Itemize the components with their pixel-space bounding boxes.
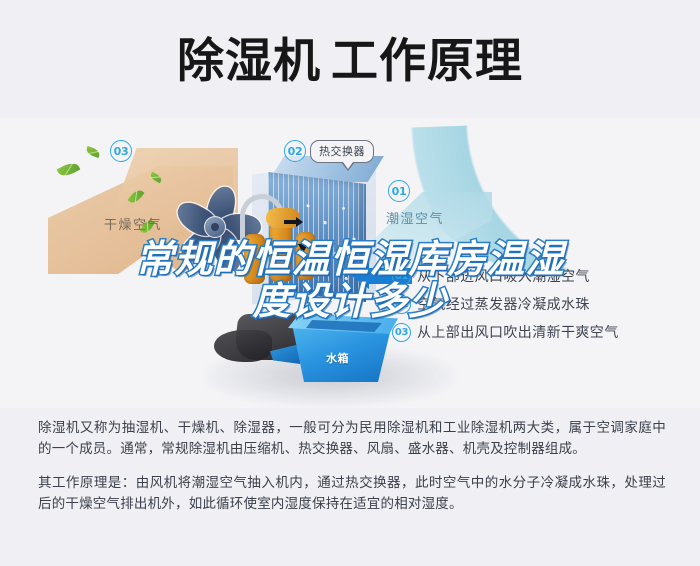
body-copy: 除湿机又称为抽湿机、干燥机、除湿器，一般可分为民用除湿机和工业除湿机两大类，属于… xyxy=(38,418,666,515)
coil-cylinder-top xyxy=(266,208,300,228)
step-description: 空气经过蒸发器冷凝成水珠 xyxy=(417,294,590,314)
page-title: 除湿机工作原理 xyxy=(177,38,523,85)
coil-cylinder xyxy=(296,232,315,280)
caption-humid-air: 潮湿空气 xyxy=(386,208,444,227)
diagram-badge-03: 03 xyxy=(110,140,132,162)
title-part2: 工作原理 xyxy=(331,34,523,89)
page-root: 除湿机工作原理 xyxy=(0,0,700,566)
flow-arrow-up-icon xyxy=(270,240,280,249)
water-tank-label: 水箱 xyxy=(326,350,349,366)
coil-cylinder xyxy=(270,222,292,282)
flow-arrow-right-icon xyxy=(284,220,297,224)
compressor-coil-assembly xyxy=(236,192,322,288)
caption-dry-air: 干燥空气 xyxy=(104,214,162,233)
step-description: 从下部进风口吸入潮湿空气 xyxy=(417,266,590,286)
body-paragraph-1: 除湿机又称为抽湿机、干燥机、除湿器，一般可分为民用除湿机和工业除湿机两大类，属于… xyxy=(38,418,666,460)
step-number-badge: 01 xyxy=(392,267,411,286)
coil-cylinder xyxy=(244,234,265,284)
step-list-item: 02 空气经过蒸发器冷凝成水珠 xyxy=(392,290,692,318)
step-number-badge: 02 xyxy=(392,295,411,314)
step-number-badge: 03 xyxy=(392,323,411,342)
body-paragraph-2: 其工作原理是：由风机将潮湿空气抽入机内，通过热交换器，此时空气中的水分子冷凝成水… xyxy=(38,473,666,515)
step-list: 01 从下部进风口吸入潮湿空气 02 空气经过蒸发器冷凝成水珠 03 从上部出风… xyxy=(392,262,692,346)
step-list-item: 03 从上部出风口吹出清新干爽空气 xyxy=(392,318,692,346)
leaf-icon xyxy=(57,160,81,180)
step-list-item: 01 从下部进风口吸入潮湿空气 xyxy=(392,262,692,290)
step-description: 从上部出风口吹出清新干爽空气 xyxy=(417,322,619,342)
diagram-badge-02: 02 xyxy=(284,140,306,162)
heat-exchanger-callout: 热交换器 xyxy=(310,140,374,163)
fan-hub xyxy=(204,216,226,238)
title-band: 除湿机工作原理 xyxy=(0,0,700,122)
flow-arrow-down-icon xyxy=(298,244,308,253)
leaf-icon xyxy=(85,146,101,158)
title-part1: 除湿机 xyxy=(177,34,321,89)
diagram-badge-01: 01 xyxy=(388,180,410,202)
